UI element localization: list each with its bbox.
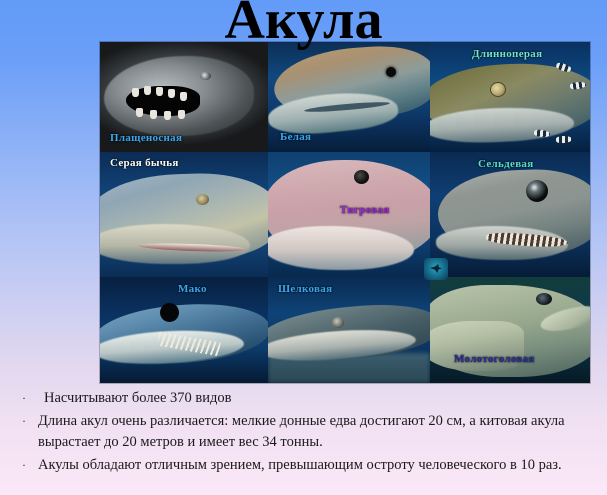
- shark-tooth: [132, 88, 139, 97]
- photo-cell-frilled-shark[interactable]: Плащеносная: [100, 42, 268, 152]
- shark-tooth: [164, 111, 171, 120]
- shark-photo-grid: Плащеносная Белая Длинноперая Серая бычь…: [100, 42, 590, 383]
- photo-caption-grey-bull-shark: Серая бычья: [110, 157, 179, 169]
- page-title: Акула: [0, 0, 607, 48]
- shark-tooth: [180, 92, 187, 101]
- photo-caption-oceanic-whitetip-shark: Длинноперая: [472, 48, 542, 60]
- photo-caption-silky-shark: Шелковая: [278, 283, 332, 295]
- bullet-text-shark-length: Длина акул очень различается: мелкие дон…: [38, 411, 598, 453]
- shark-eye: [332, 317, 344, 328]
- shark-eye: [490, 82, 506, 97]
- photo-cell-silky-shark[interactable]: Шелковая: [268, 277, 430, 383]
- bullet-marker-icon: ·: [10, 388, 38, 408]
- diver-icon: [430, 264, 442, 273]
- shark-tooth: [144, 86, 151, 95]
- photo-cell-mako-shark[interactable]: Мако: [100, 277, 268, 383]
- shark-tooth: [178, 110, 185, 119]
- photo-cell-tiger-shark[interactable]: Тигровая: [268, 152, 430, 277]
- diver-inset-thumbnail: [424, 258, 448, 280]
- bullet-text-species-count: Насчитывают более 370 видов: [38, 388, 598, 409]
- shark-eye: [526, 180, 548, 202]
- shark-eye: [536, 293, 552, 305]
- photo-caption-hammerhead-shark: Молотоголовая: [454, 353, 535, 365]
- shark-eye: [160, 303, 179, 322]
- photo-cell-great-white-shark[interactable]: Белая: [268, 42, 430, 152]
- bullet-marker-icon: ·: [10, 411, 38, 431]
- shark-eye: [200, 72, 211, 80]
- photo-caption-mako-shark: Мако: [178, 283, 207, 295]
- shark-tooth: [168, 89, 175, 98]
- bullet-list: · Насчитывают более 370 видов · Длина ак…: [10, 388, 598, 478]
- photo-caption-tiger-shark: Тигровая: [340, 204, 390, 216]
- list-item: · Акулы обладают отличным зрением, превы…: [10, 455, 598, 476]
- pilot-fish: [556, 135, 572, 143]
- photo-cell-hammerhead-shark[interactable]: Молотоголовая: [430, 277, 590, 383]
- photo-caption-frilled-shark: Плащеносная: [110, 132, 182, 144]
- photo-cell-porbeagle-shark[interactable]: Сельдевая: [430, 152, 590, 277]
- photo-cell-oceanic-whitetip-shark[interactable]: Длинноперая: [430, 42, 590, 152]
- shark-eye: [386, 67, 396, 77]
- bullet-text-shark-vision: Акулы обладают отличным зрением, превыша…: [38, 455, 598, 476]
- photo-caption-porbeagle-shark: Сельдевая: [478, 158, 534, 170]
- shark-tooth: [150, 110, 157, 119]
- shark-tooth: [156, 87, 163, 96]
- shark-eye: [196, 194, 209, 205]
- list-item: · Длина акул очень различается: мелкие д…: [10, 411, 598, 453]
- shark-eye: [354, 170, 369, 184]
- photo-caption-great-white-shark: Белая: [280, 131, 311, 143]
- list-item: · Насчитывают более 370 видов: [10, 388, 598, 409]
- photo-cell-grey-bull-shark[interactable]: Серая бычья: [100, 152, 268, 277]
- bullet-marker-icon: ·: [10, 455, 38, 475]
- presentation-slide: Акула Плащеносная Белая: [0, 0, 607, 495]
- shark-tooth: [136, 108, 143, 117]
